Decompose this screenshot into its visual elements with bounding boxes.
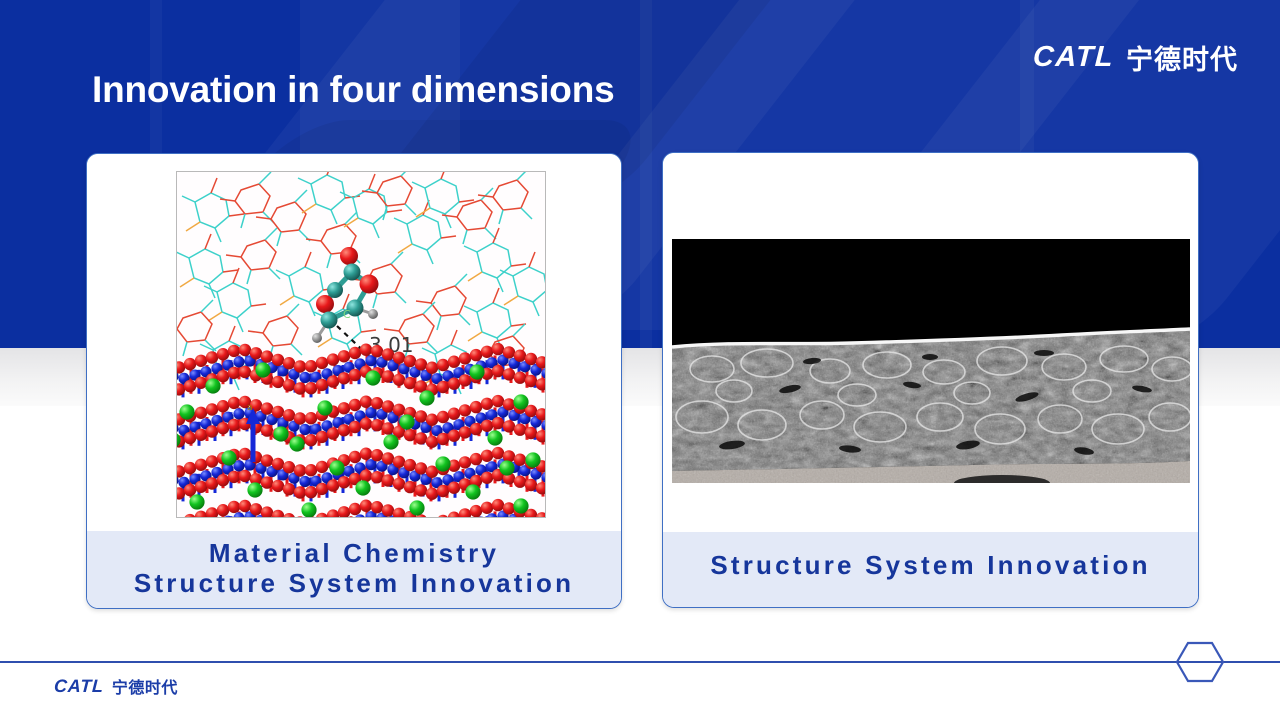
brand-logo-footer: CATL 宁德时代 [54, 674, 178, 698]
hexagon-icon [1176, 641, 1224, 683]
figure-molecular-crystal: C 3.01 a [87, 154, 621, 531]
sem-micrograph-image [672, 239, 1190, 483]
atom-label: C [343, 308, 351, 321]
card-material-chemistry[interactable]: C 3.01 a [86, 153, 622, 609]
slide-root: Innovation in four dimensions CATL 宁德时代 [0, 0, 1280, 720]
brand-wordmark: CATL [1032, 41, 1115, 74]
brand-chinese-name: 宁德时代 [1126, 38, 1238, 77]
figure-sem-cross-section [663, 153, 1198, 532]
card-caption-material-chemistry: Material Chemistry Structure System Inno… [87, 531, 621, 608]
card-caption-structure-system: Structure System Innovation [663, 532, 1198, 607]
page-title: Innovation in four dimensions [92, 69, 614, 111]
sem-micrograph-svg [672, 239, 1190, 483]
card-structure-system[interactable]: Structure System Innovation [662, 152, 1199, 608]
crystal-structure-svg: C 3.01 a [177, 172, 545, 517]
footer-rule [0, 661, 1280, 663]
crystal-structure-image: C 3.01 a [176, 171, 546, 518]
brand-chinese-name-footer: 宁德时代 [112, 674, 178, 698]
svg-text:a: a [247, 403, 253, 413]
brand-wordmark-footer: CATL [53, 676, 104, 697]
brand-logo-top: CATL 宁德时代 [1033, 38, 1238, 77]
